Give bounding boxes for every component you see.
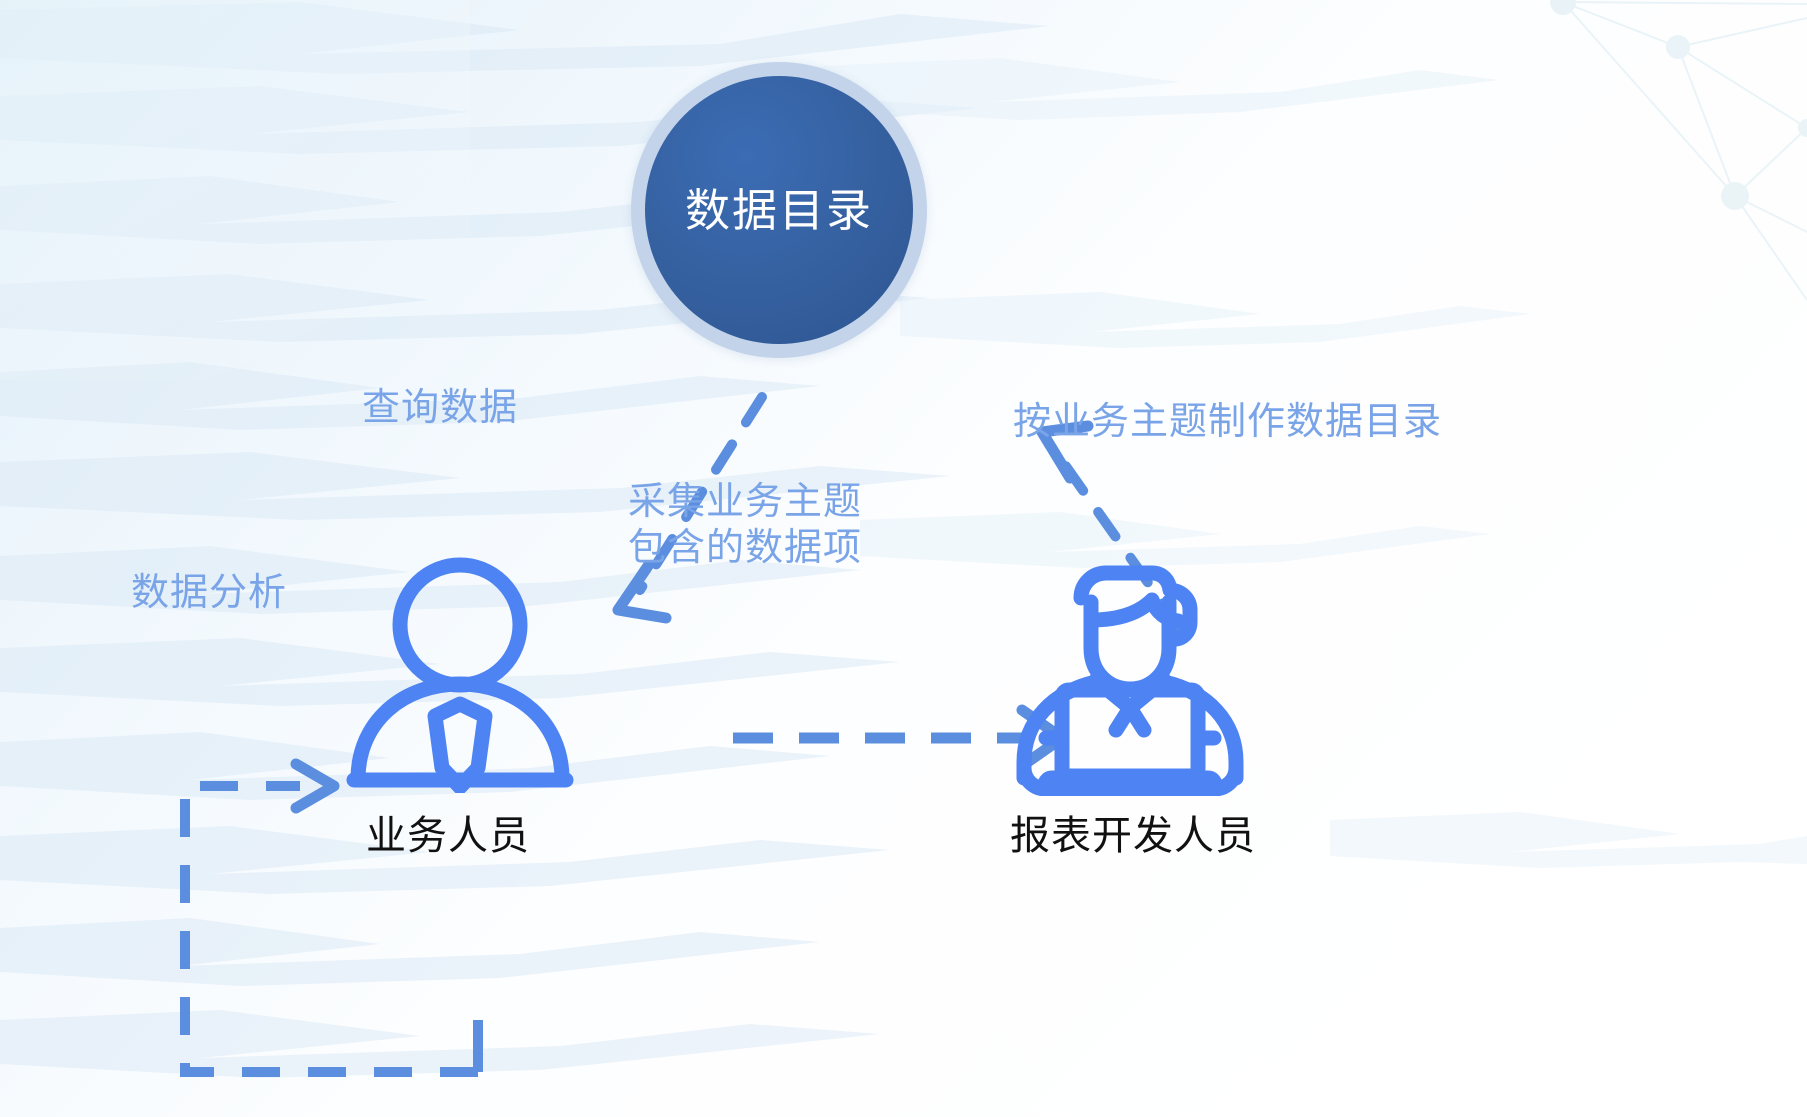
data-catalog-node[interactable]: 数据目录: [631, 62, 927, 358]
data-catalog-circle: 数据目录: [645, 76, 913, 344]
edge-label-build-catalog: 按业务主题制作数据目录: [1013, 399, 1442, 445]
edge-label-collect-items-line2: 包含的数据项: [628, 525, 862, 571]
diagram-canvas: 数据目录 查询数据 数据分析 采集业务主题 包含的数据项 按业务主题制作数据目录: [0, 0, 1807, 1117]
report-developer-icon[interactable]: [996, 540, 1260, 796]
edge-label-collect-items: 采集业务主题 包含的数据项: [628, 479, 862, 572]
edge-label-query-data: 查询数据: [362, 385, 518, 431]
data-catalog-label: 数据目录: [685, 188, 873, 233]
edge-label-collect-items-line1: 采集业务主题: [628, 479, 862, 525]
actor-label-report-developer: 报表开发人员: [1010, 803, 1256, 861]
edge-label-data-analysis: 数据分析: [131, 570, 287, 616]
business-person-icon[interactable]: [340, 553, 580, 793]
actor-label-business-person: 业务人员: [366, 803, 530, 861]
